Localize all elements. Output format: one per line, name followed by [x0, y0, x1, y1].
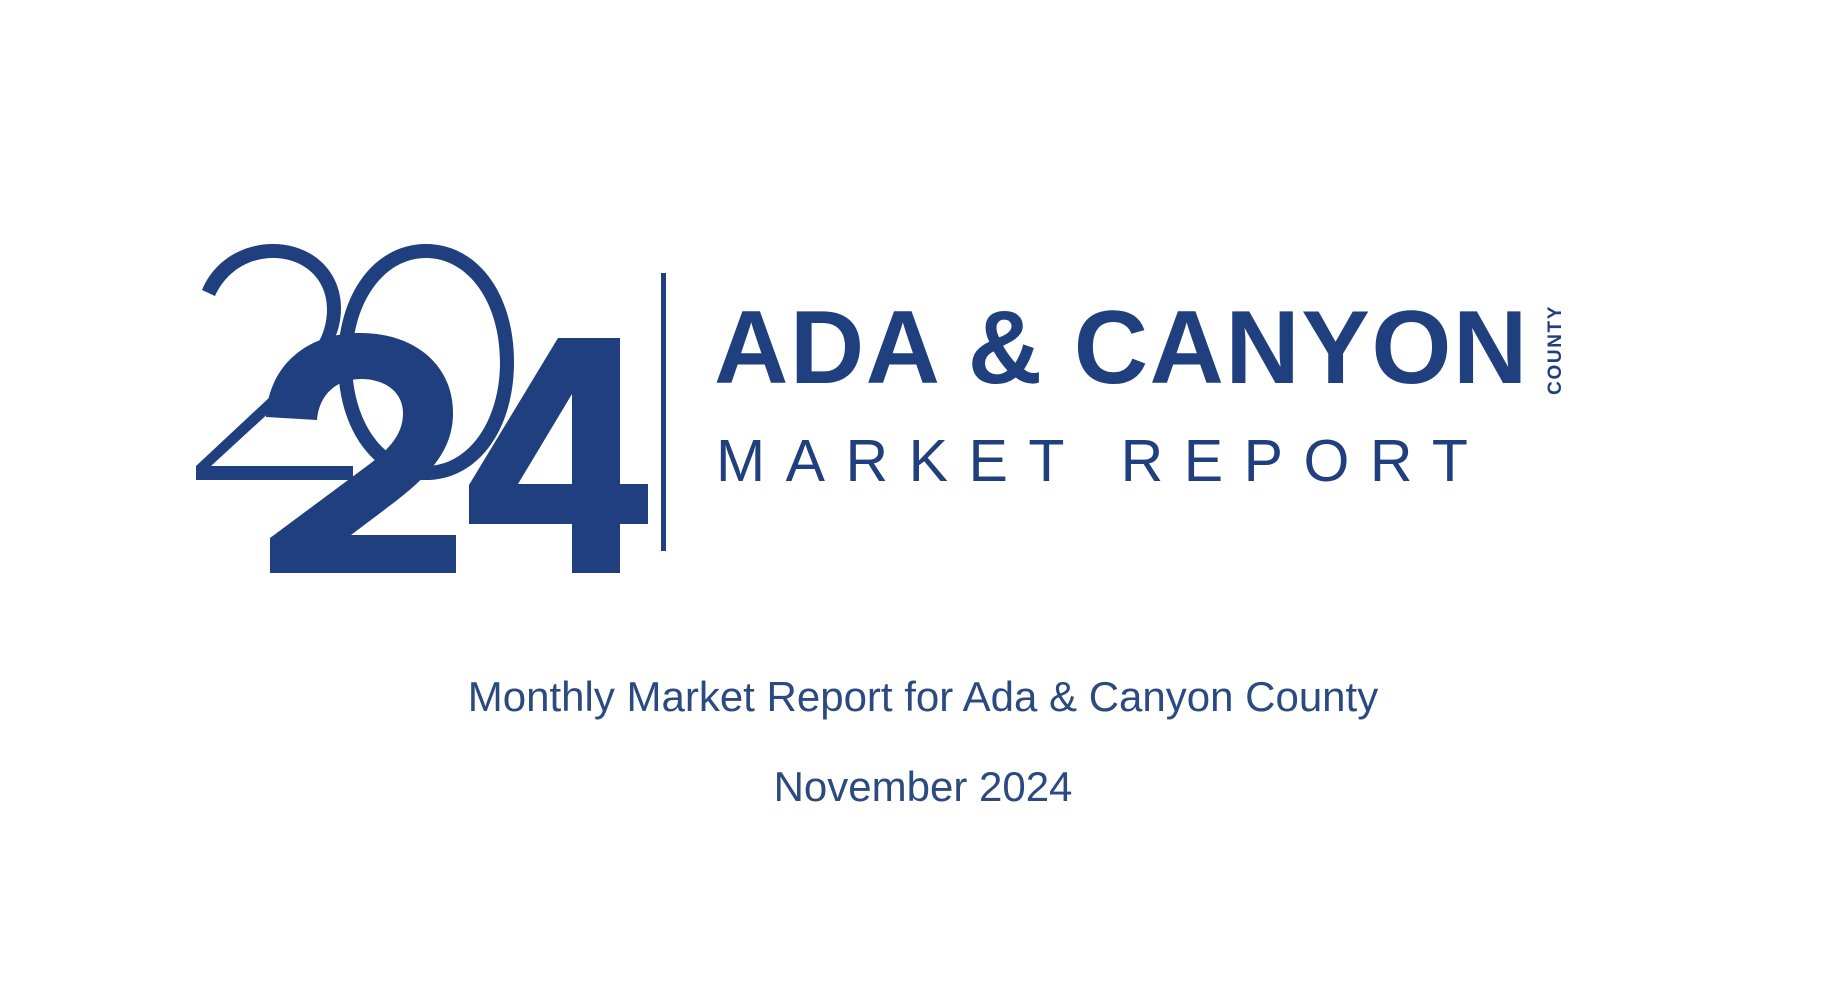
vertical-divider-icon: [661, 273, 666, 551]
wordmark-primary-row: ADA & CANYON COUNTY: [714, 287, 1565, 397]
title-slide: ADA & CANYON COUNTY MARKET REPORT Monthl…: [0, 0, 1846, 994]
caption-date: November 2024: [0, 766, 1846, 808]
solid-digit-4: [469, 338, 648, 573]
year-2024-mark: [188, 235, 658, 575]
wordmark-county-tag: COUNTY: [1546, 305, 1565, 395]
caption-subtitle: Monthly Market Report for Ada & Canyon C…: [0, 676, 1846, 718]
wordmark-primary-text: ADA & CANYON: [714, 301, 1529, 397]
brand-logo-lockup: ADA & CANYON COUNTY MARKET REPORT: [0, 235, 1846, 585]
solid-24-group: [266, 333, 648, 573]
slide-caption-block: Monthly Market Report for Ada & Canyon C…: [0, 676, 1846, 808]
solid-digit-2: [266, 333, 456, 573]
wordmark-secondary-text: MARKET REPORT: [716, 427, 1488, 495]
brand-wordmark: ADA & CANYON COUNTY MARKET REPORT: [714, 235, 1674, 575]
